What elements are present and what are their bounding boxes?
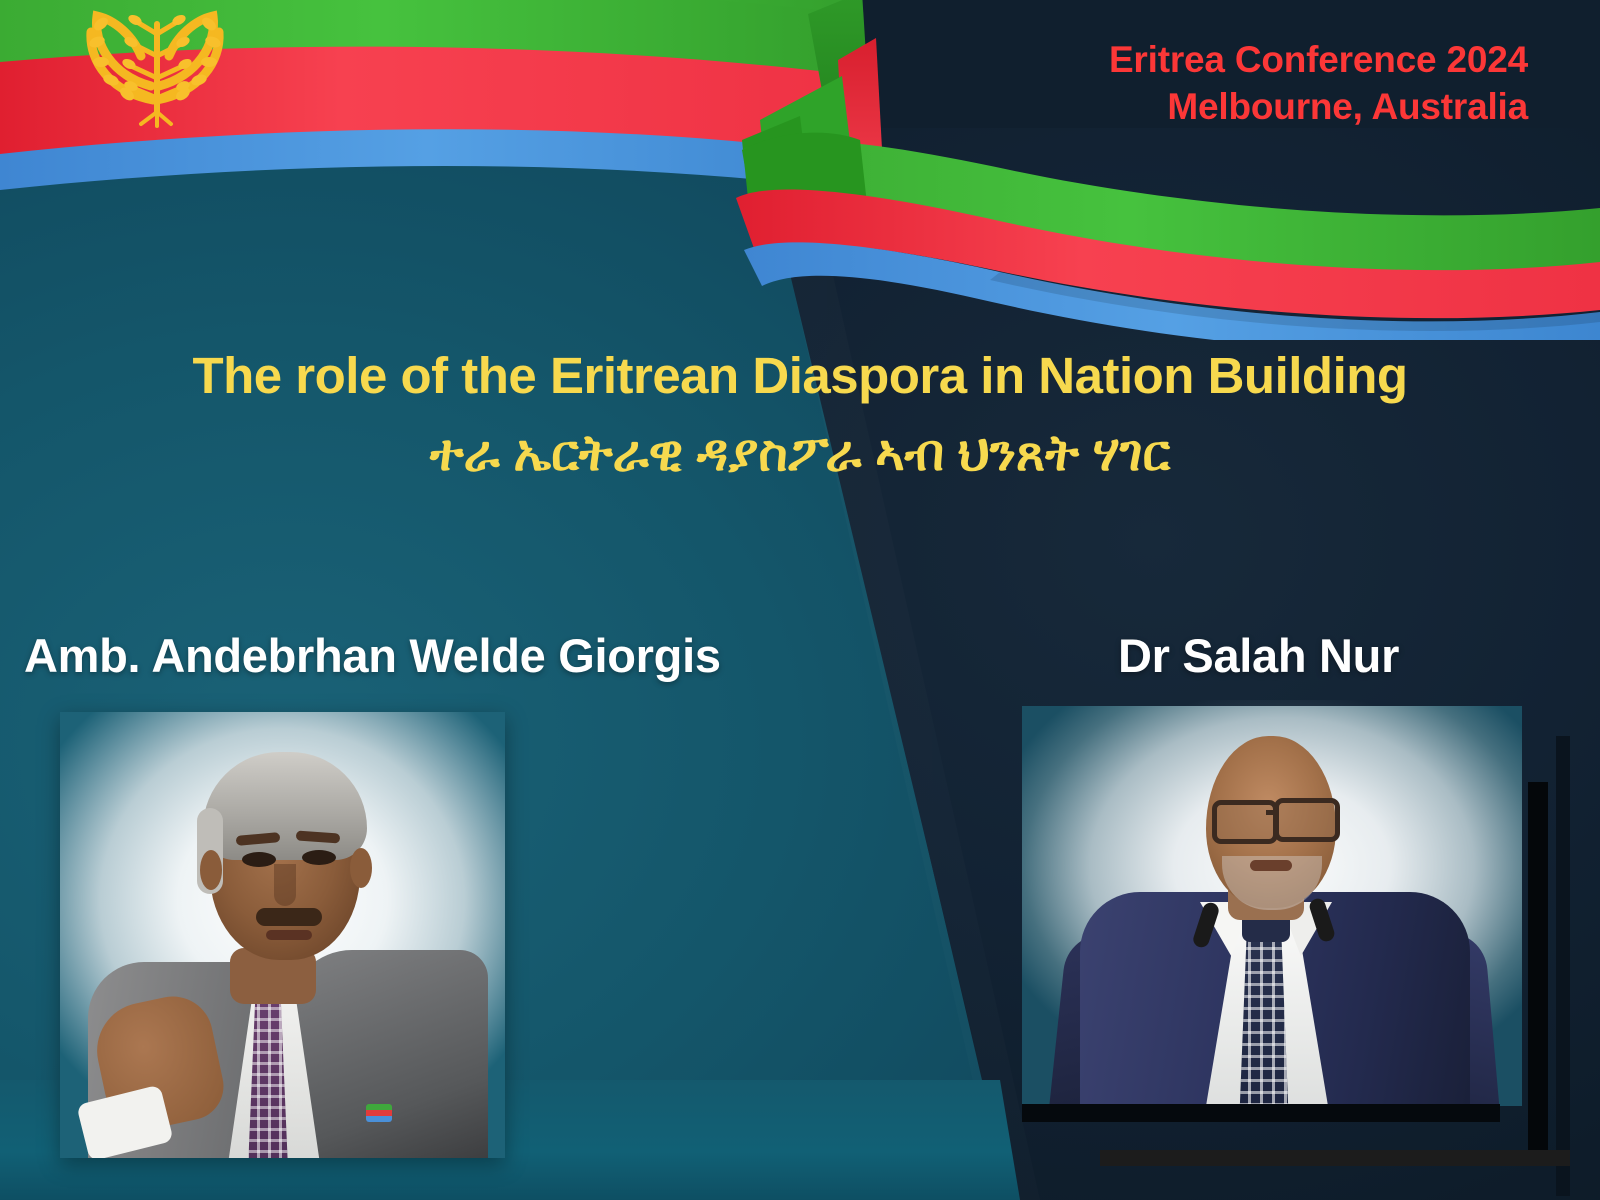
- left-figure-eye-right: [302, 850, 336, 865]
- poster-title: The role of the Eritrean Diaspora in Nat…: [0, 348, 1600, 481]
- left-figure-mustache: [256, 908, 322, 926]
- photo-frame-bar-bottom-lower: [1100, 1150, 1570, 1166]
- left-figure-mouth: [266, 930, 312, 940]
- left-figure-shoulder: [288, 950, 488, 1158]
- photo-frame-bar-bottom: [1022, 1104, 1500, 1122]
- left-figure-nose: [274, 864, 296, 906]
- conference-location-line: Melbourne, Australia: [1109, 83, 1528, 130]
- left-figure-ear-left: [200, 850, 222, 890]
- speaker-photo-right: [1022, 706, 1522, 1106]
- speaker-name-right: Dr Salah Nur: [1118, 628, 1399, 683]
- right-figure-glasses-left: [1212, 800, 1278, 844]
- photo-frame-bar-far-right: [1556, 736, 1570, 1196]
- photo-frame-bar-right: [1528, 782, 1548, 1164]
- left-figure-hair: [203, 752, 367, 860]
- left-figure-ear-right: [350, 848, 372, 888]
- title-english: The role of the Eritrean Diaspora in Nat…: [0, 348, 1600, 403]
- conference-title-line: Eritrea Conference 2024: [1109, 36, 1528, 83]
- left-figure-eye-left: [242, 852, 276, 867]
- conference-poster: Eritrea Conference 2024 Melbourne, Austr…: [0, 0, 1600, 1200]
- left-figure-flag-pin: [366, 1104, 392, 1122]
- right-figure-glasses-right: [1274, 798, 1340, 842]
- right-figure-glasses-bridge: [1266, 810, 1278, 815]
- right-figure-mouth: [1250, 860, 1292, 871]
- speaker-name-left: Amb. Andebrhan Welde Giorgis: [24, 628, 721, 683]
- speaker-photo-left: [60, 712, 505, 1158]
- title-tigrinya: ተራ ኤርትራዊ ዳያስፖራ ኣብ ህንጸት ሃገር: [0, 425, 1600, 481]
- conference-header: Eritrea Conference 2024 Melbourne, Austr…: [1109, 36, 1528, 131]
